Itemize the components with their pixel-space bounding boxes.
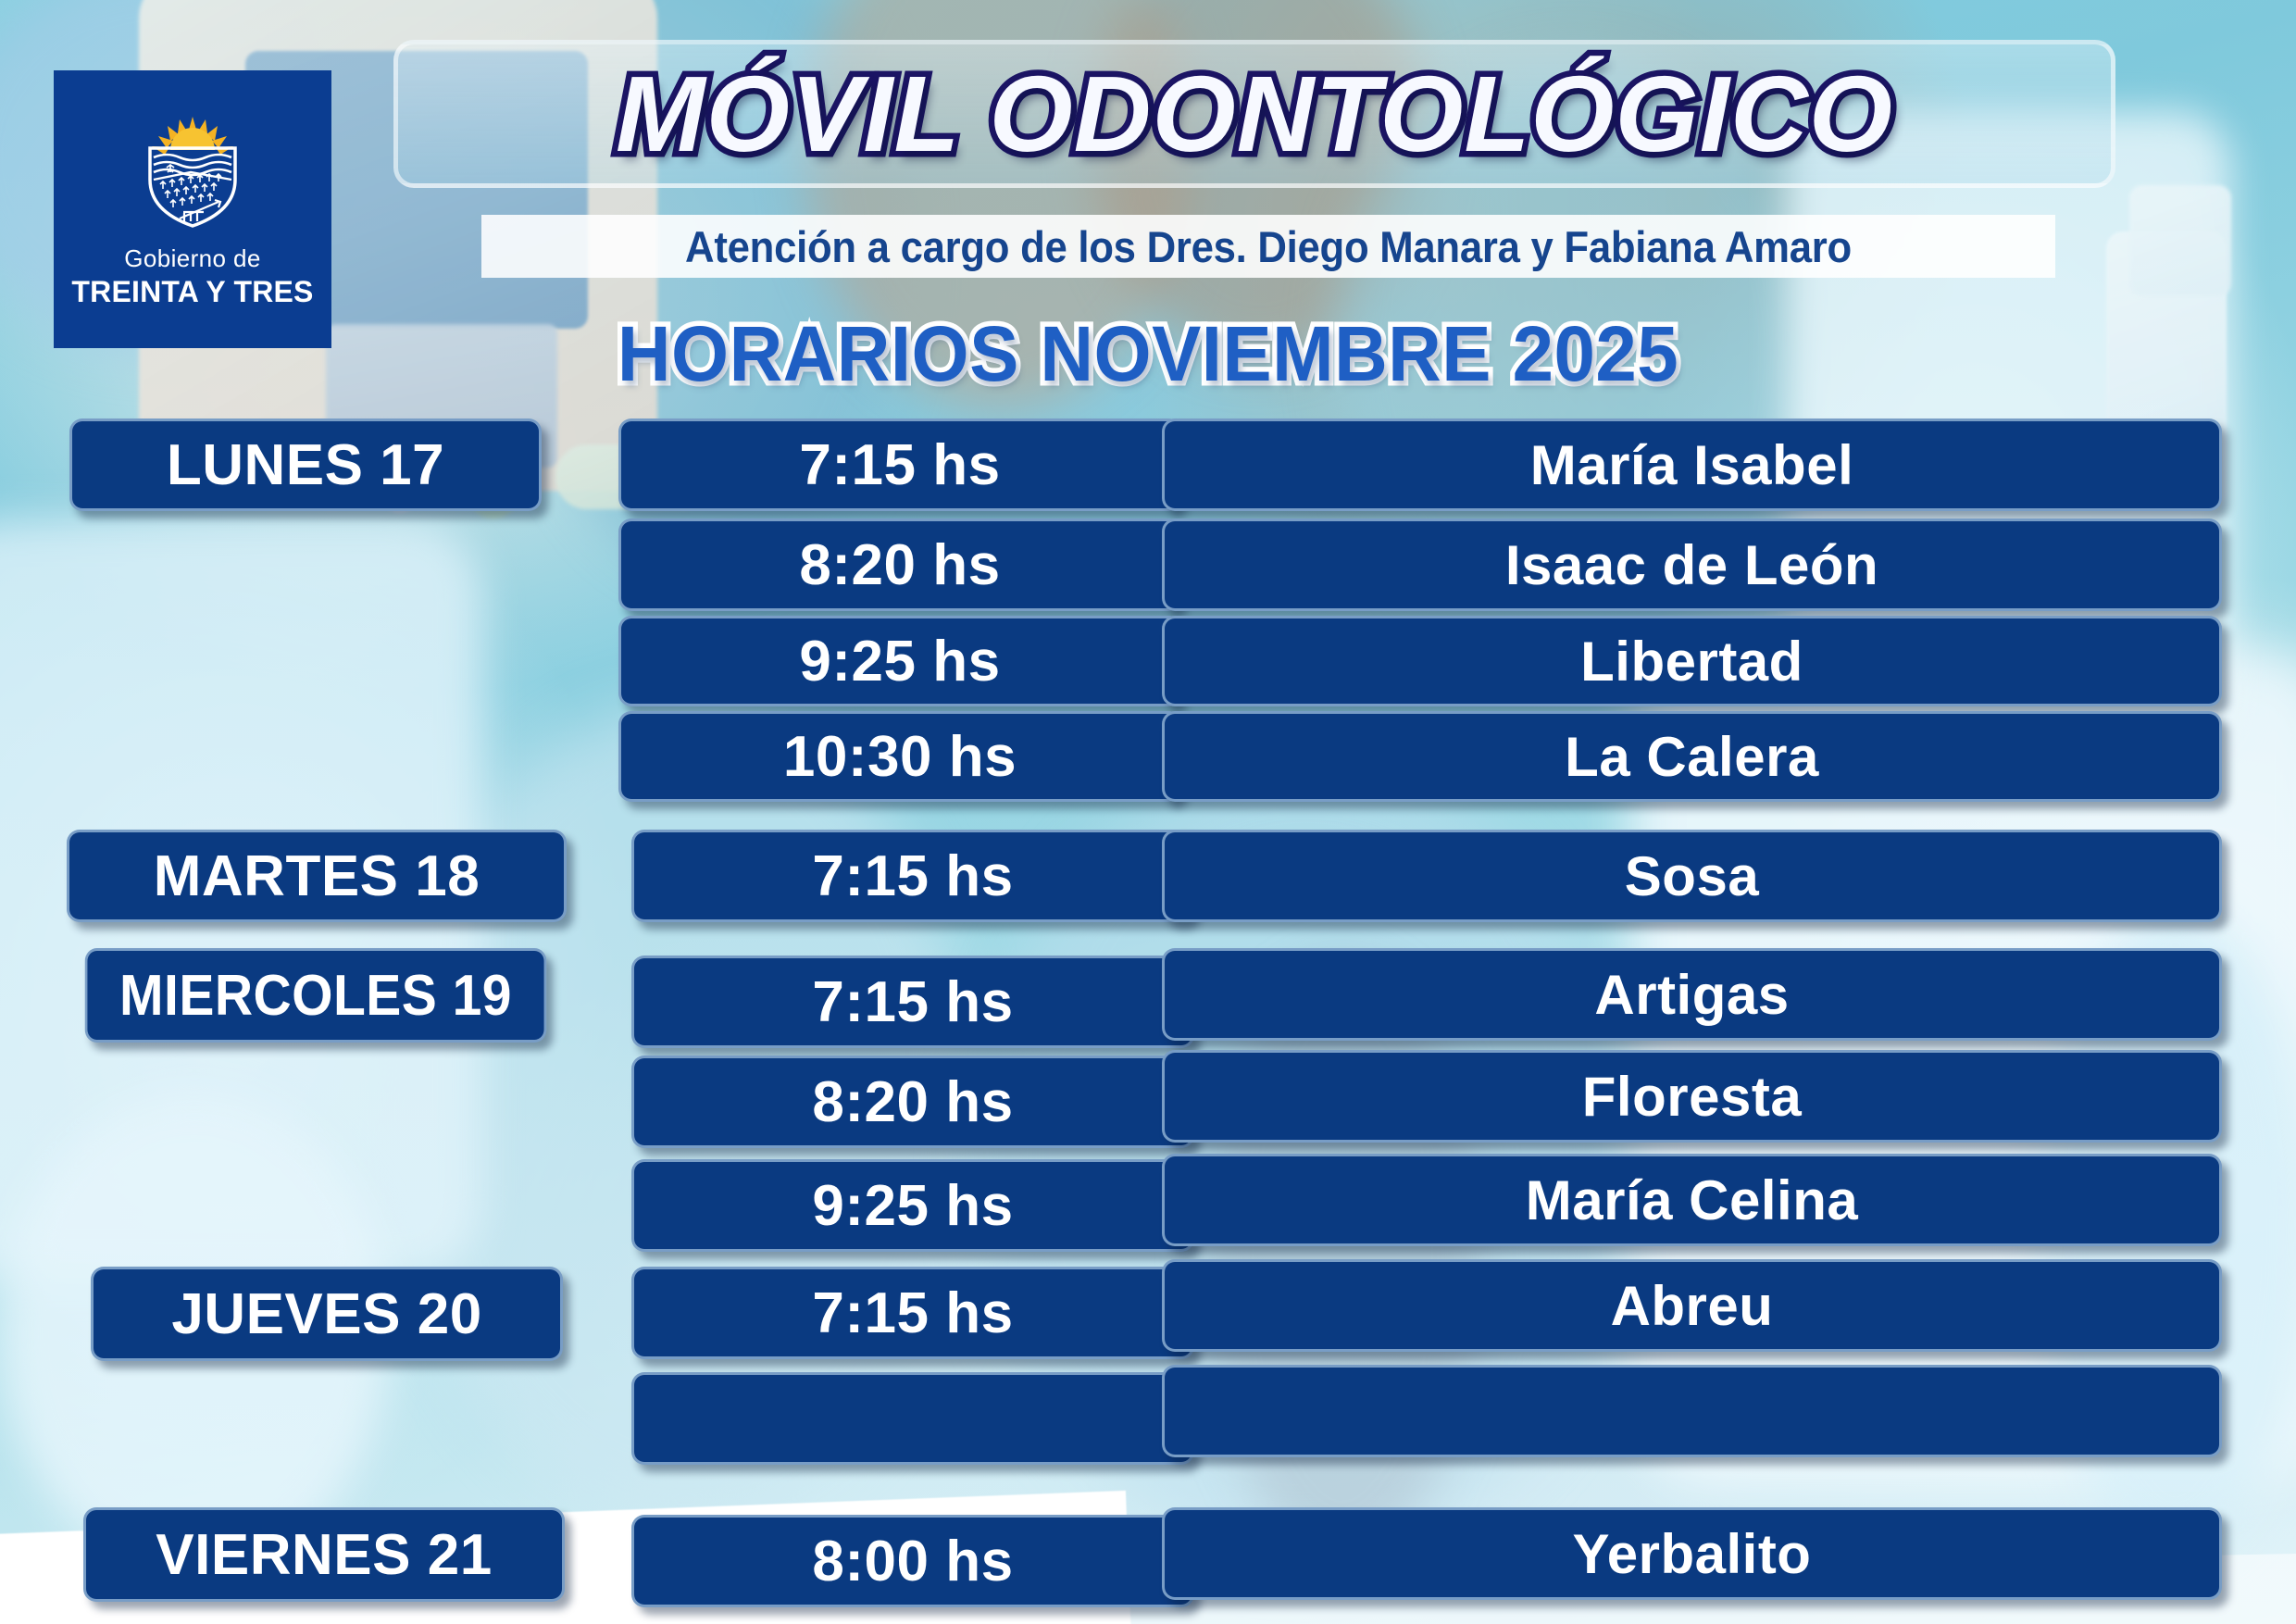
place-box: Isaac de León [1162,518,2222,611]
poster-root: Gobierno de TREINTA Y TRES MÓVIL ODONTOL… [0,0,2296,1624]
place-text: Sosa [1625,844,1759,908]
place-box [1162,1365,2222,1457]
time-box: 7:15 hs [631,956,1194,1048]
place-text: Artigas [1594,963,1789,1027]
place-box: La Calera [1162,711,2222,802]
time-box: 9:25 hs [618,616,1181,706]
logo-line-2: TREINTA Y TRES [71,275,313,309]
day-label-box: MARTES 18 [67,830,567,922]
day-label-text: MIERCOLES 19 [119,963,512,1029]
place-box: Sosa [1162,830,2222,922]
time-box [631,1372,1194,1465]
day-label-text: JUEVES 20 [171,1281,481,1347]
period-heading: HORARIOS NOVIEMBRE 2025 [57,306,2239,402]
place-box: Abreu [1162,1259,2222,1352]
day-label-text: VIERNES 21 [156,1522,492,1588]
place-text: Isaac de León [1505,533,1878,597]
day-label-box: VIERNES 21 [83,1507,565,1602]
time-box: 8:20 hs [631,1056,1194,1148]
time-box: 7:15 hs [631,1267,1194,1359]
place-text: La Calera [1565,725,1819,789]
place-box: María Celina [1162,1154,2222,1246]
time-text: 9:25 hs [799,629,1000,694]
day-label-box: LUNES 17 [69,418,542,511]
place-text: María Isabel [1530,433,1854,497]
time-text: 7:15 hs [812,843,1013,909]
time-text: 8:00 hs [812,1529,1013,1594]
place-text: Yerbalito [1573,1522,1812,1586]
place-text: María Celina [1526,1168,1858,1232]
time-box: 10:30 hs [618,711,1181,802]
time-text: 7:15 hs [799,432,1000,498]
place-text: Libertad [1580,630,1803,693]
time-text: 8:20 hs [812,1069,1013,1135]
page-title: MÓVIL ODONTOLÓGICO [393,44,2115,183]
time-box: 8:00 hs [631,1515,1194,1607]
place-box: Yerbalito [1162,1507,2222,1600]
time-box: 7:15 hs [618,418,1181,511]
place-text: Abreu [1611,1274,1774,1338]
time-text: 10:30 hs [783,724,1017,790]
place-box: Floresta [1162,1050,2222,1143]
place-box: Artigas [1162,948,2222,1041]
time-box: 7:15 hs [631,830,1194,922]
time-box: 8:20 hs [618,518,1181,611]
day-label-text: LUNES 17 [167,432,444,498]
place-text: Floresta [1582,1065,1802,1129]
time-text: 7:15 hs [812,969,1013,1035]
time-text: 7:15 hs [812,1280,1013,1346]
time-text: 9:25 hs [812,1173,1013,1239]
day-label-box: MIERCOLES 19 [85,948,547,1043]
day-label-text: MARTES 18 [154,843,480,909]
time-text: 8:20 hs [799,532,1000,598]
day-label-box: JUEVES 20 [91,1267,563,1361]
subtitle-text: Atención a cargo de los Dres. Diego Mana… [537,215,2001,278]
logo-line-1: Gobierno de [124,244,261,273]
time-box: 9:25 hs [631,1159,1194,1252]
place-box: María Isabel [1162,418,2222,511]
place-box: Libertad [1162,616,2222,706]
coat-of-arms-icon [143,115,243,228]
